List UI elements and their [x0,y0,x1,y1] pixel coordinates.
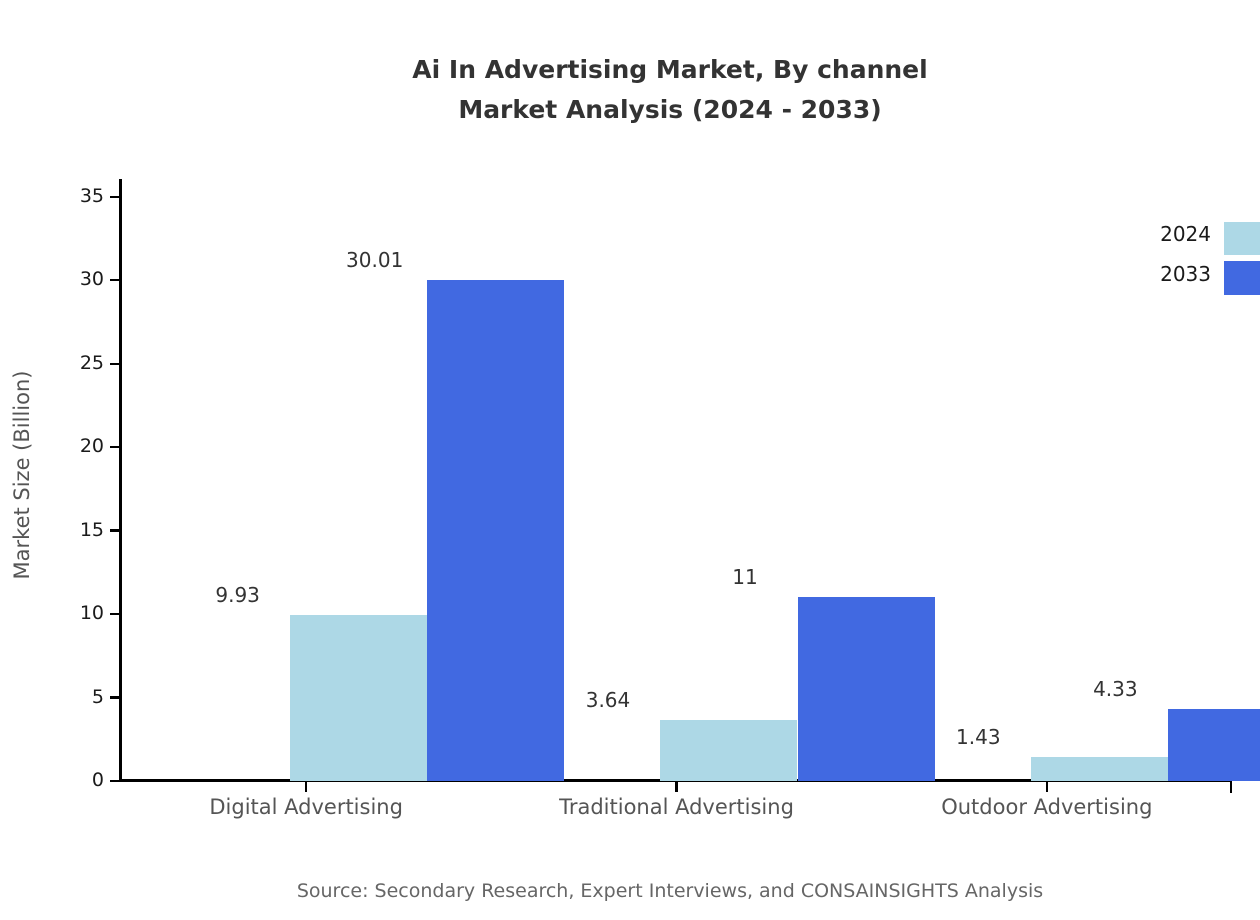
value-label-2033-outdoor-advertising: 4.33 [1015,679,1215,699]
legend-label-2033: 2033 [1091,263,1211,285]
x-axis-label-outdoor-advertising: Outdoor Advertising [837,793,1257,821]
value-label-2033-traditional-advertising: 11 [645,567,845,587]
legend-swatch-2033 [1224,261,1260,295]
y-tick-10 [110,613,121,615]
chart-figure: Ai In Advertising Market, By channel Mar… [0,0,1260,920]
y-tick-25 [110,363,121,365]
y-tick-label-5: 5 [24,688,104,707]
bar-2033-outdoor-advertising[interactable] [1168,709,1260,781]
bar-2024-digital-advertising[interactable] [290,615,427,781]
legend-label-2024: 2024 [1091,223,1211,245]
y-tick-30 [110,279,121,281]
x-tick-2 [1046,781,1048,792]
value-label-2024-outdoor-advertising: 1.43 [878,727,1078,747]
bar-2024-outdoor-advertising[interactable] [1031,757,1168,781]
chart-legend: 2024 2033 [1135,218,1260,298]
bar-2033-traditional-advertising[interactable] [798,597,935,781]
source-note: Source: Secondary Research, Expert Inter… [0,878,1260,904]
y-tick-label-30: 30 [24,270,104,289]
chart-title: Ai In Advertising Market, By channel Mar… [0,50,1260,130]
x-tick-1 [675,781,677,792]
y-tick-label-35: 35 [24,187,104,206]
bar-2024-traditional-advertising[interactable] [660,720,797,781]
y-tick-5 [110,696,121,698]
y-tick-label-0: 0 [24,771,104,790]
legend-item-2024[interactable]: 2024 [1135,218,1260,258]
value-label-2024-traditional-advertising: 3.64 [508,690,708,710]
legend-item-2033[interactable]: 2033 [1135,258,1260,298]
y-tick-35 [110,196,121,198]
value-label-2033-digital-advertising: 30.01 [275,250,475,270]
y-tick-label-25: 25 [24,354,104,373]
legend-swatch-2024 [1224,222,1260,255]
x-axis-label-digital-advertising: Digital Advertising [96,793,516,821]
y-tick-15 [110,529,121,531]
x-axis-label-traditional-advertising: Traditional Advertising [467,793,887,821]
y-tick-0 [110,780,121,782]
y-tick-label-10: 10 [24,604,104,623]
y-tick-label-15: 15 [24,521,104,540]
y-tick-20 [110,446,121,448]
chart-title-line-2: Market Analysis (2024 - 2033) [0,90,1260,130]
chart-title-line-1: Ai In Advertising Market, By channel [0,50,1260,90]
x-axis-end-tick [1230,779,1233,793]
y-tick-label-20: 20 [24,437,104,456]
value-label-2024-digital-advertising: 9.93 [138,585,338,605]
x-tick-0 [305,781,307,792]
